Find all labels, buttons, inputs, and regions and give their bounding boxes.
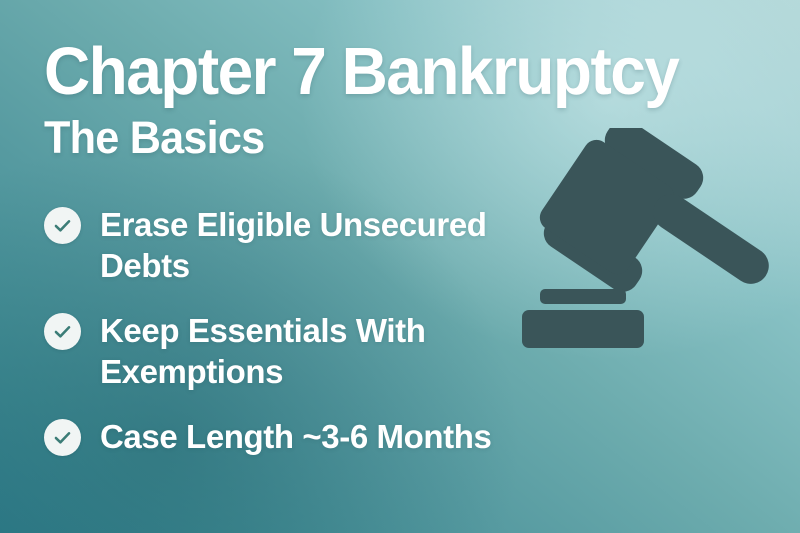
list-item: Erase Eligible Unsecured Debts xyxy=(44,204,564,286)
list-item-label: Case Length ~3-6 Months xyxy=(100,416,491,457)
check-circle-icon xyxy=(44,313,81,350)
page-title: Chapter 7 Bankruptcy xyxy=(44,38,541,106)
list-item: Case Length ~3-6 Months xyxy=(44,416,564,457)
list-item-label: Erase Eligible Unsecured Debts xyxy=(100,204,520,286)
list-item: Keep Essentials With Exemptions xyxy=(44,310,564,392)
infographic-canvas: Chapter 7 Bankruptcy The Basics Erase El… xyxy=(0,0,800,533)
gavel-cap-top xyxy=(599,128,710,205)
check-circle-icon xyxy=(44,419,81,456)
check-circle-icon xyxy=(44,207,81,244)
gavel-handle xyxy=(646,187,776,291)
list-item-label: Keep Essentials With Exemptions xyxy=(100,310,520,392)
benefits-list: Erase Eligible Unsecured Debts Keep Esse… xyxy=(44,204,564,457)
page-subtitle: The Basics xyxy=(44,114,543,161)
content-block: Chapter 7 Bankruptcy The Basics Erase El… xyxy=(44,38,564,457)
